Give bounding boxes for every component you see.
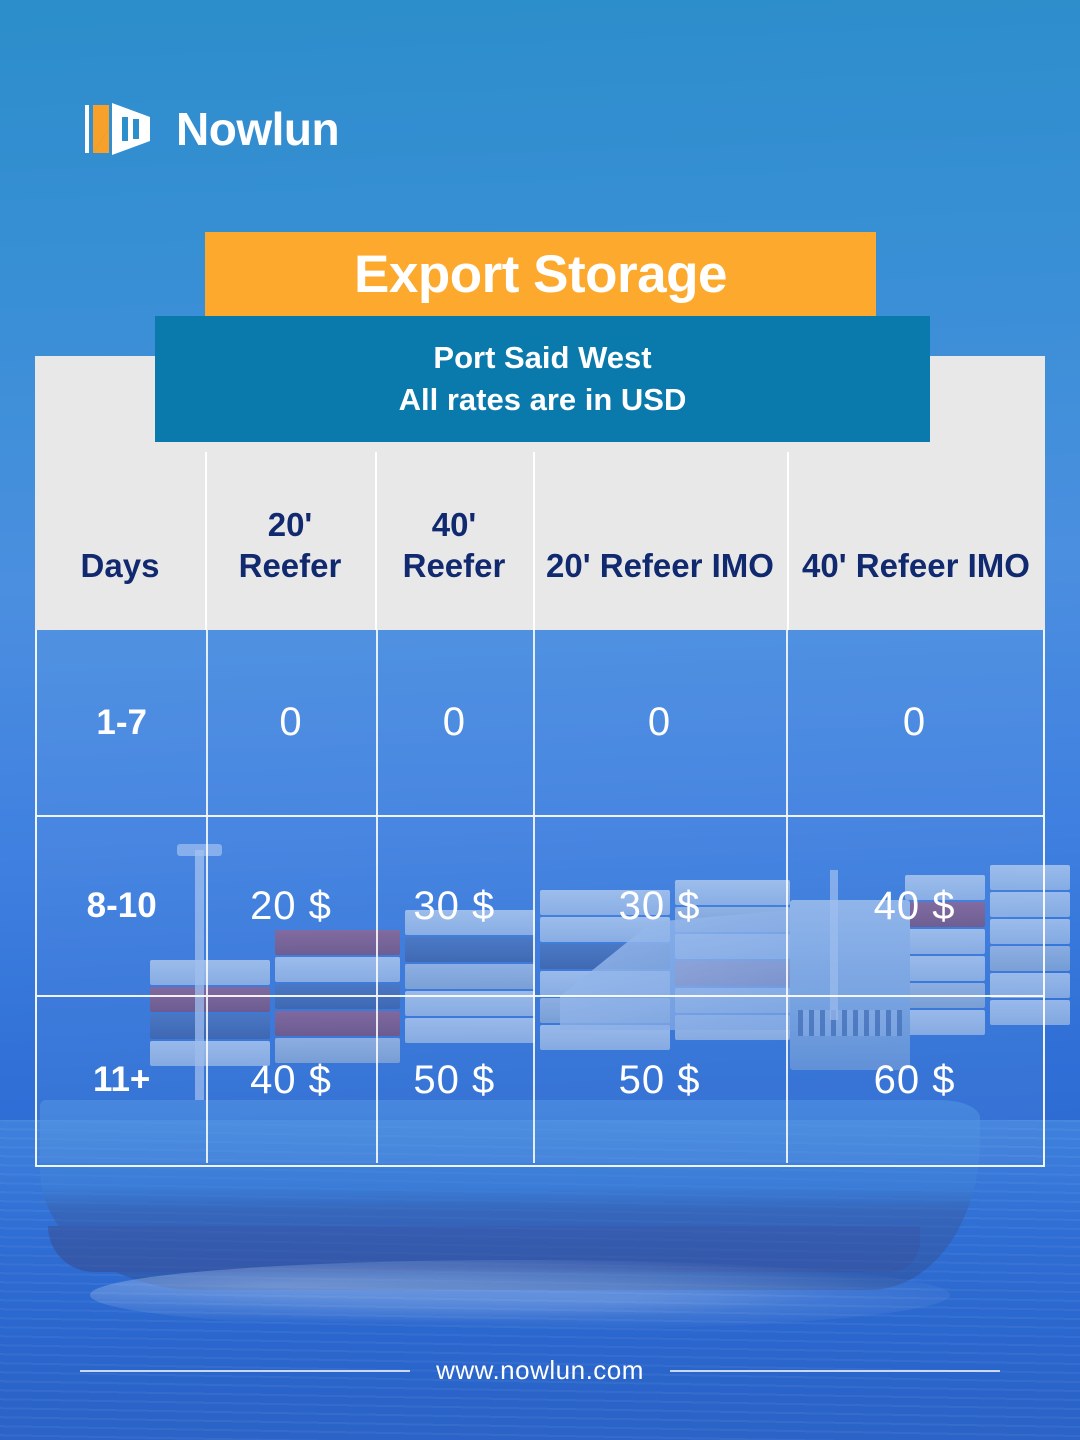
poster-canvas: Nowlun Days 20' Reefer 40' Reefer 20' Re… xyxy=(0,0,1080,1440)
footer-website-url[interactable]: www.nowlun.com xyxy=(436,1355,644,1386)
page-title: Export Storage xyxy=(354,244,727,305)
port-name: Port Said West xyxy=(433,340,651,376)
rate-cell: 30 $ xyxy=(376,817,533,995)
footer: www.nowlun.com xyxy=(0,1355,1080,1386)
rate-cell: 50 $ xyxy=(376,997,533,1163)
row-label-cell: 11+ xyxy=(37,997,206,1163)
table-body: 1-7 0 0 0 0 8-10 xyxy=(35,630,1045,1167)
subtitle-banner: Port Said West All rates are in USD xyxy=(155,316,930,442)
rates-table: Days 20' Reefer 40' Reefer 20' Refeer IM… xyxy=(35,356,1045,1167)
currency-note: All rates are in USD xyxy=(399,382,687,418)
brand-name: Nowlun xyxy=(176,102,339,156)
title-banner: Export Storage xyxy=(205,232,876,316)
rate-cell: 0 xyxy=(533,630,786,815)
footer-divider-right xyxy=(670,1370,1000,1372)
rate-cell: 0 xyxy=(206,630,375,815)
rate-cell: 30 $ xyxy=(533,817,786,995)
rate-cell: 0 xyxy=(376,630,533,815)
rate-cell: 20 $ xyxy=(206,817,375,995)
brand-logo: Nowlun xyxy=(84,101,339,157)
nowlun-n-shield-logo-icon xyxy=(84,101,154,157)
row-label-cell: 1-7 xyxy=(37,630,206,815)
bow-wake xyxy=(90,1260,950,1330)
table-row: 8-10 20 $ 30 $ 30 $ 40 $ xyxy=(37,815,1043,995)
rate-cell: 0 xyxy=(786,630,1043,815)
table-row: 11+ 40 $ 50 $ 50 $ 60 $ xyxy=(37,995,1043,1163)
rate-cell: 40 $ xyxy=(786,817,1043,995)
row-label-cell: 8-10 xyxy=(37,817,206,995)
rate-cell: 40 $ xyxy=(206,997,375,1163)
table-row: 1-7 0 0 0 0 xyxy=(37,630,1043,815)
footer-divider-left xyxy=(80,1370,410,1372)
rate-cell: 60 $ xyxy=(786,997,1043,1163)
rate-cell: 50 $ xyxy=(533,997,786,1163)
